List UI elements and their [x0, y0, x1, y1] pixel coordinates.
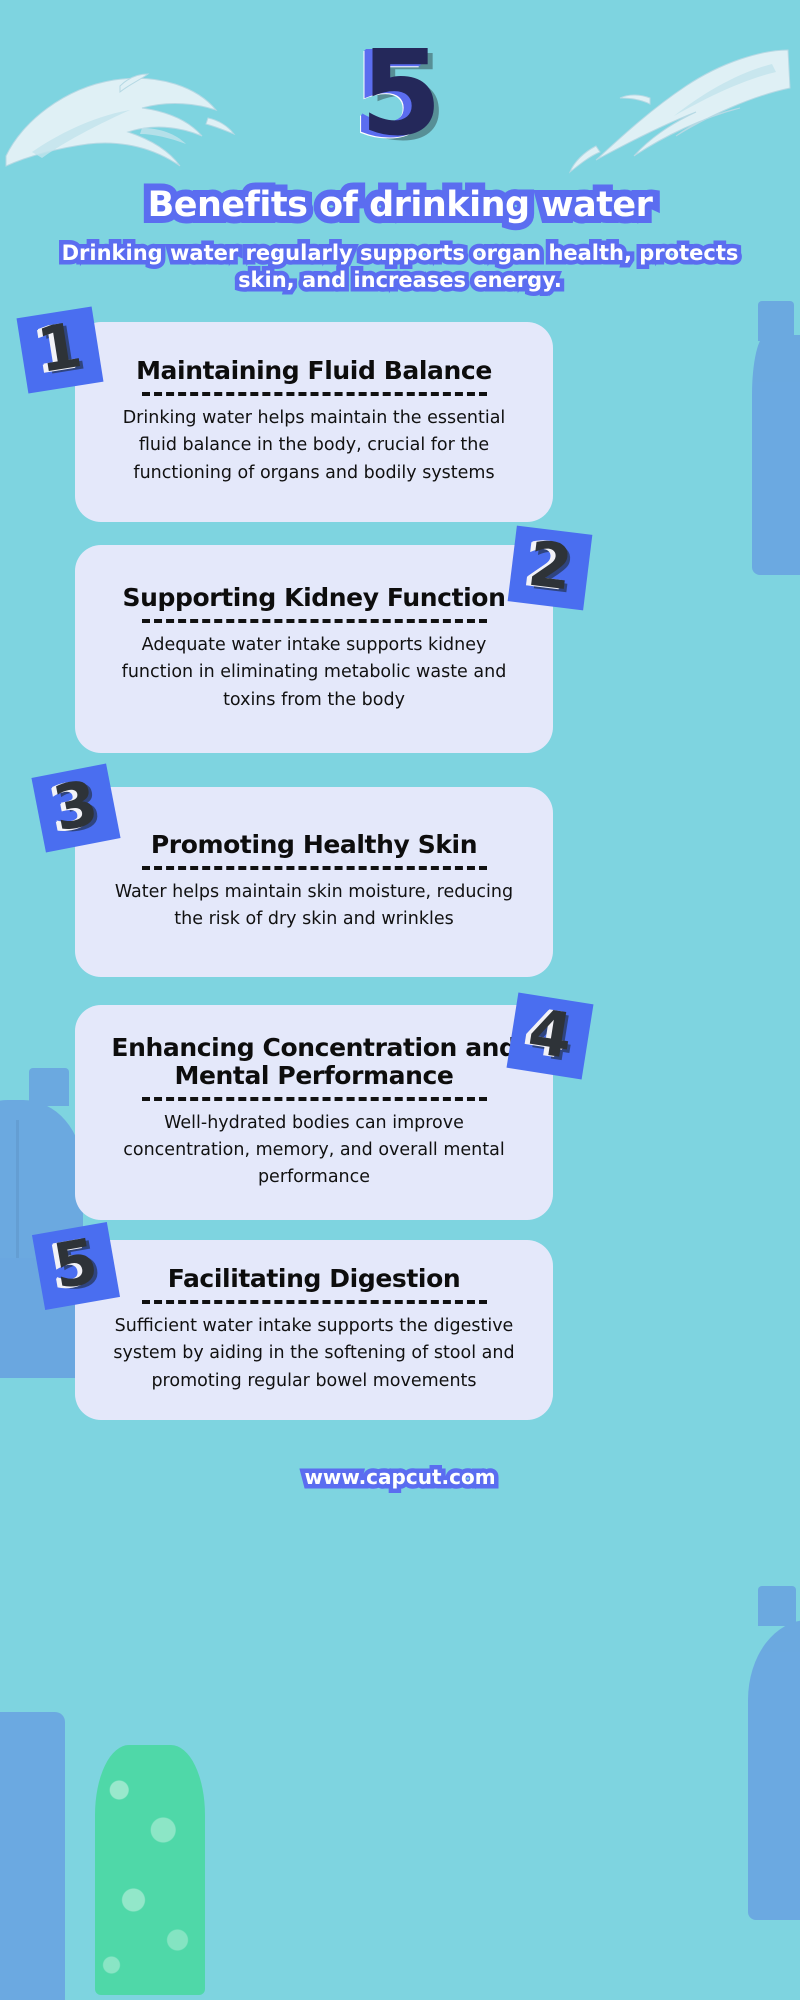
benefit-number-badge-1: 1: [17, 307, 104, 394]
badge-number: 2: [525, 533, 575, 600]
dashed-divider: [142, 1097, 487, 1101]
dashed-divider: [142, 392, 487, 396]
benefit-body: Sufficient water intake supports the dig…: [109, 1313, 519, 1394]
bottle-left-bottom-icon: [0, 1712, 65, 2000]
benefit-body: Adequate water intake supports kidney fu…: [109, 632, 519, 713]
bottle-right-top-icon: [752, 335, 800, 575]
bottle-right-bottom-icon: [748, 1620, 800, 1920]
bottle-green-icon: [95, 1745, 205, 1995]
benefit-number-badge-4: 4: [507, 993, 594, 1080]
big-number-five: 5: [0, 34, 800, 152]
benefit-number-badge-2: 2: [508, 526, 593, 611]
benefit-card-1: Maintaining Fluid Balance Drinking water…: [75, 322, 553, 522]
dashed-divider: [142, 619, 487, 623]
badge-number: 3: [49, 771, 103, 840]
footer-website-url: www.capcut.com: [0, 1465, 800, 1489]
benefit-number-badge-3: 3: [31, 763, 120, 852]
dashed-divider: [142, 866, 487, 870]
benefit-card-4: Enhancing Concentration and Mental Perfo…: [75, 1005, 553, 1220]
benefit-body: Drinking water helps maintain the essent…: [109, 405, 519, 486]
infographic-poster: 5 Benefits of drinking water Drinking wa…: [0, 0, 800, 2000]
page-title: Benefits of drinking water: [0, 185, 800, 225]
benefit-card-2: Supporting Kidney Function Adequate wate…: [75, 545, 553, 753]
benefit-card-3: Promoting Healthy Skin Water helps maint…: [75, 787, 553, 977]
benefit-title: Facilitating Digestion: [168, 1265, 461, 1293]
badge-number: 5: [49, 1230, 102, 1299]
dashed-divider: [142, 1300, 487, 1304]
benefit-body: Water helps maintain skin moisture, redu…: [109, 879, 519, 933]
benefit-card-5: Facilitating Digestion Sufficient water …: [75, 1240, 553, 1420]
benefit-title: Enhancing Concentration and Mental Perfo…: [109, 1034, 519, 1090]
badge-number: 1: [34, 314, 86, 382]
page-subtitle: Drinking water regularly supports organ …: [60, 240, 740, 294]
badge-number: 4: [524, 1000, 576, 1068]
benefit-title: Maintaining Fluid Balance: [136, 357, 492, 385]
benefit-title: Promoting Healthy Skin: [151, 831, 477, 859]
benefit-body: Well-hydrated bodies can improve concent…: [109, 1110, 519, 1191]
benefit-title: Supporting Kidney Function: [123, 584, 506, 612]
benefit-number-badge-5: 5: [32, 1222, 120, 1310]
